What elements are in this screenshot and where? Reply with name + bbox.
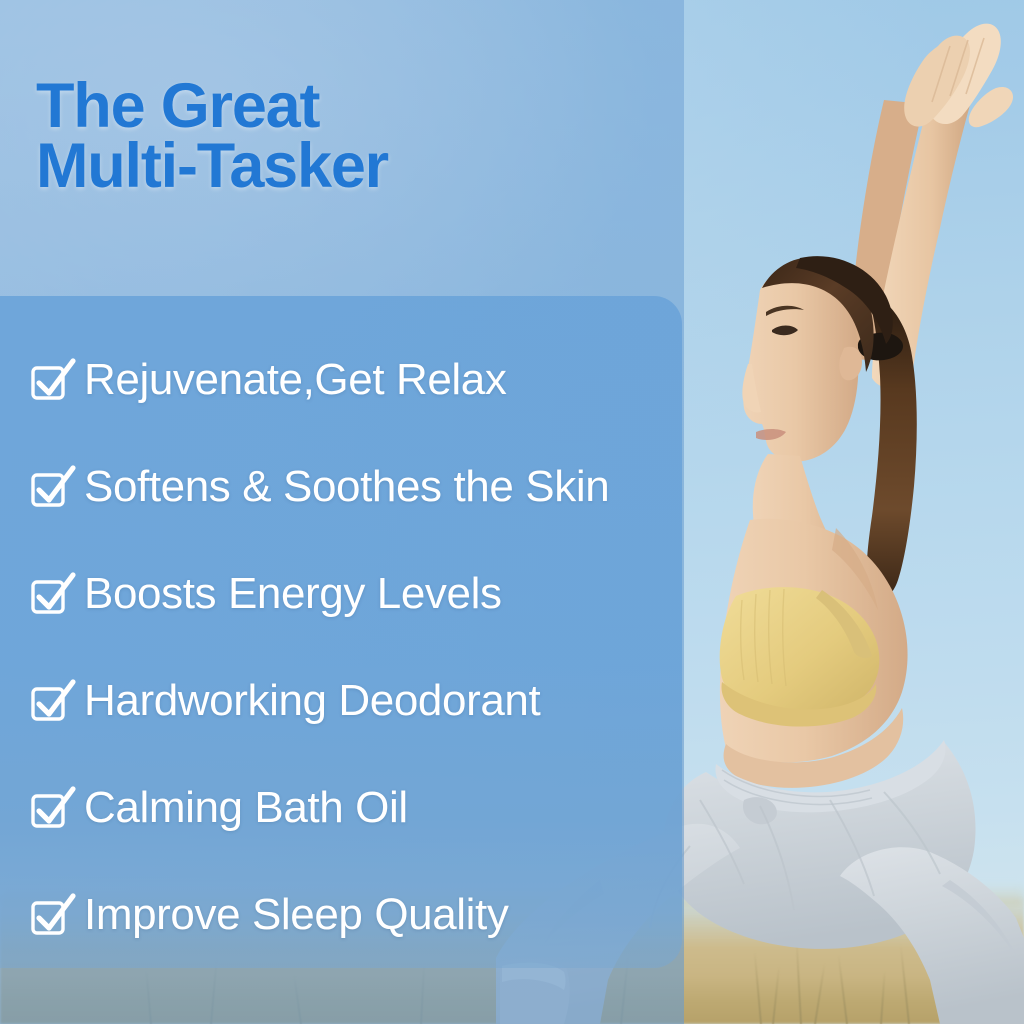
- feature-list: Rejuvenate,Get Relax Softens & Soothes t…: [30, 326, 690, 968]
- feature-item-label: Calming Bath Oil: [84, 786, 408, 830]
- title-line-2: Multi-Tasker: [36, 131, 388, 201]
- feature-item: Calming Bath Oil: [30, 754, 690, 861]
- feature-item: Boosts Energy Levels: [30, 540, 690, 647]
- feature-item: Hardworking Deodorant: [30, 647, 690, 754]
- feature-item: Improve Sleep Quality: [30, 861, 690, 968]
- product-feature-graphic: The GreatMulti-Tasker Rejuvenate,Get Rel…: [0, 0, 1024, 1024]
- feature-item-label: Softens & Soothes the Skin: [84, 465, 609, 509]
- feature-item: Softens & Soothes the Skin: [30, 433, 690, 540]
- checked-checkbox-icon: [30, 786, 70, 826]
- feature-item-label: Boosts Energy Levels: [84, 572, 502, 616]
- page-title: The GreatMulti-Tasker: [36, 76, 388, 197]
- checked-checkbox-icon: [30, 679, 70, 719]
- feature-item: Rejuvenate,Get Relax: [30, 326, 690, 433]
- checked-checkbox-icon: [30, 358, 70, 398]
- feature-item-label: Improve Sleep Quality: [84, 893, 508, 937]
- checked-checkbox-icon: [30, 465, 70, 505]
- feature-item-label: Hardworking Deodorant: [84, 679, 540, 723]
- checked-checkbox-icon: [30, 893, 70, 933]
- checked-checkbox-icon: [30, 572, 70, 612]
- feature-item-label: Rejuvenate,Get Relax: [84, 358, 506, 402]
